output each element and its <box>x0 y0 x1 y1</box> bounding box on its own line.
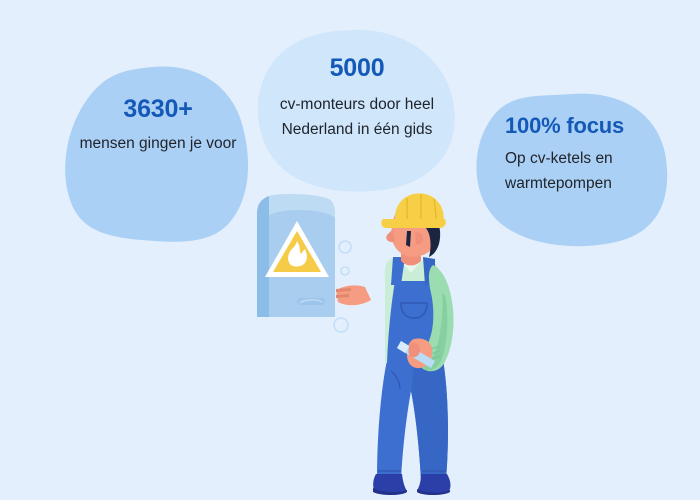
stat-description: cv-monteurs door heel Nederland in één g… <box>262 92 452 142</box>
boiler-left-edge <box>257 196 269 317</box>
technician-figure <box>336 193 454 495</box>
infographic-canvas: 3630+ mensen gingen je voor 5000 cv-mont… <box>0 0 700 500</box>
stat-value: 100% focus <box>505 113 685 139</box>
stat-card-cv-monteurs: 5000 cv-monteurs door heel Nederland in … <box>262 54 452 142</box>
boiler-display-slot <box>297 298 325 305</box>
boiler-unit-icon <box>257 194 335 317</box>
technician-boiler-illustration <box>235 185 495 500</box>
stat-card-focus: 100% focus Op cv-ketels en warmtepompen <box>505 113 685 196</box>
stat-description: Op cv-ketels en warmtepompen <box>505 146 685 196</box>
trousers-shade <box>411 360 448 480</box>
hard-hat-brim <box>381 219 446 228</box>
shoe-right <box>417 474 450 494</box>
stat-description: mensen gingen je voor <box>68 131 248 156</box>
stat-card-mensen: 3630+ mensen gingen je voor <box>68 95 248 156</box>
stat-value: 5000 <box>262 54 452 82</box>
stat-value: 3630+ <box>68 95 248 123</box>
